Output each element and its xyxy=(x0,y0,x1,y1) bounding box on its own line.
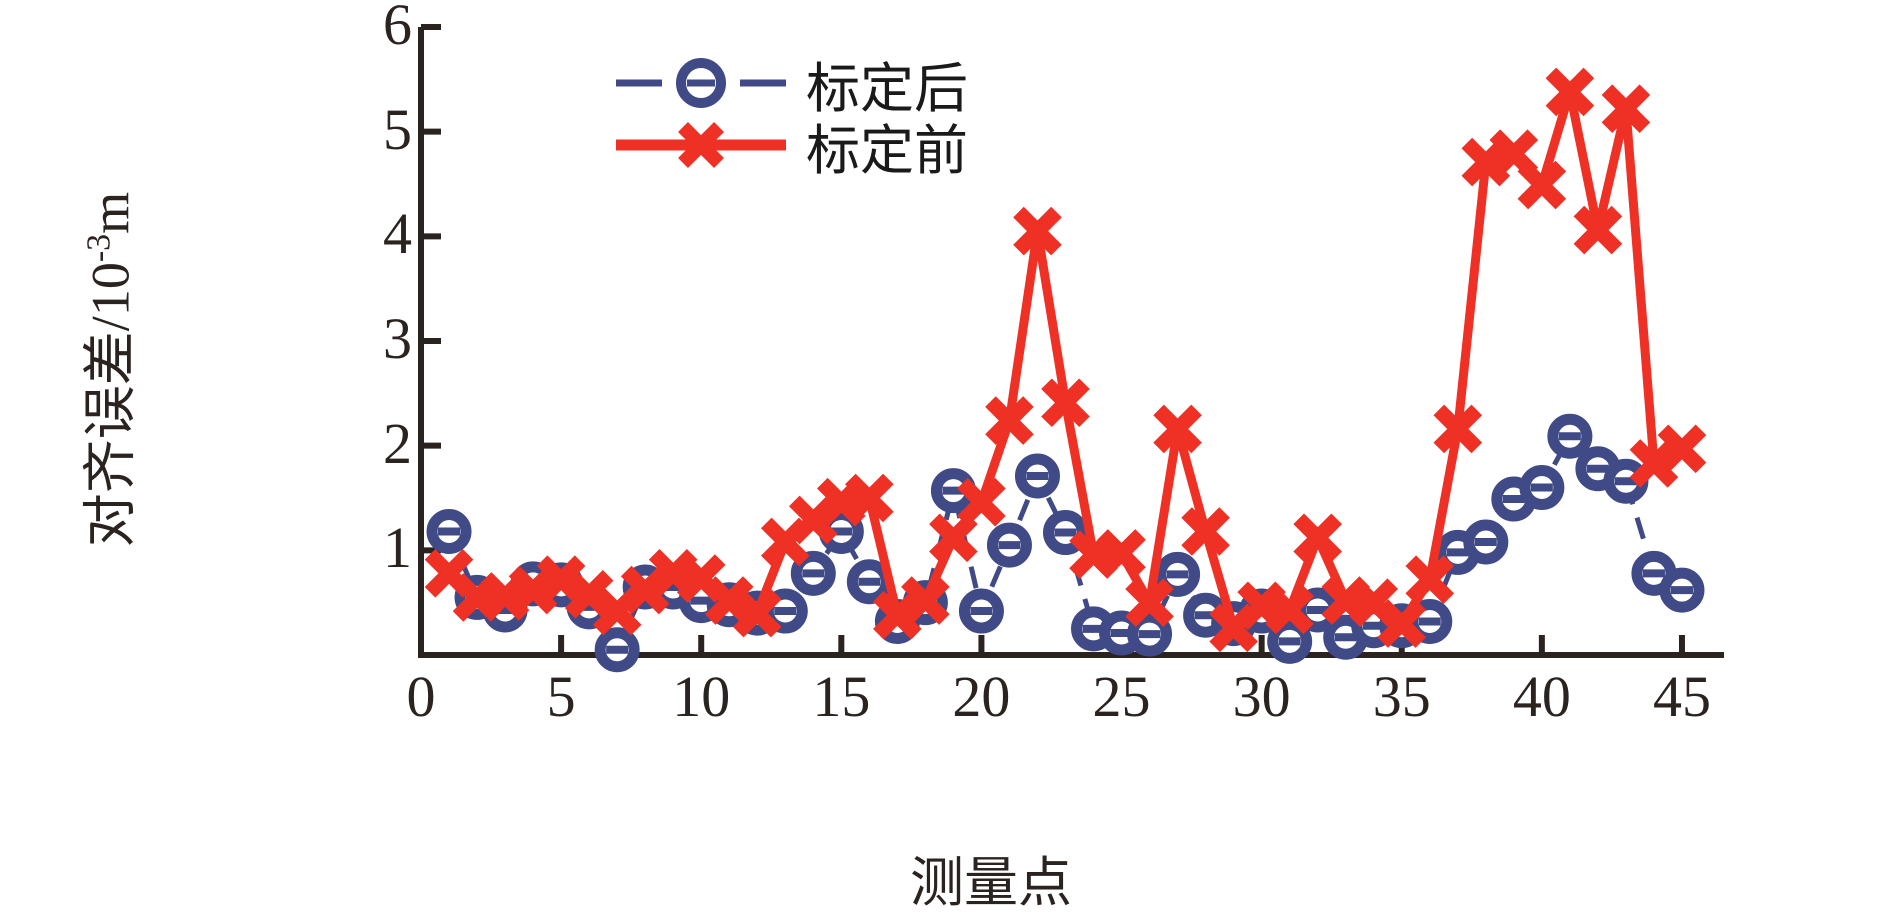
legend-swatch-solid-cross xyxy=(612,117,790,173)
legend-label-1: 标定前 xyxy=(806,106,968,185)
series-biaodinghou xyxy=(432,419,1699,667)
legend-item-1[interactable]: 标定前 xyxy=(612,114,968,176)
chart-root: 对齐误差/10-3m 测量点 123456 051015202530354045… xyxy=(0,0,1890,923)
legend-swatch-dashed-circle xyxy=(612,55,790,111)
legend-key-1 xyxy=(612,117,790,173)
legend: 标定后 标定前 xyxy=(612,52,968,176)
legend-key-0 xyxy=(612,55,790,111)
